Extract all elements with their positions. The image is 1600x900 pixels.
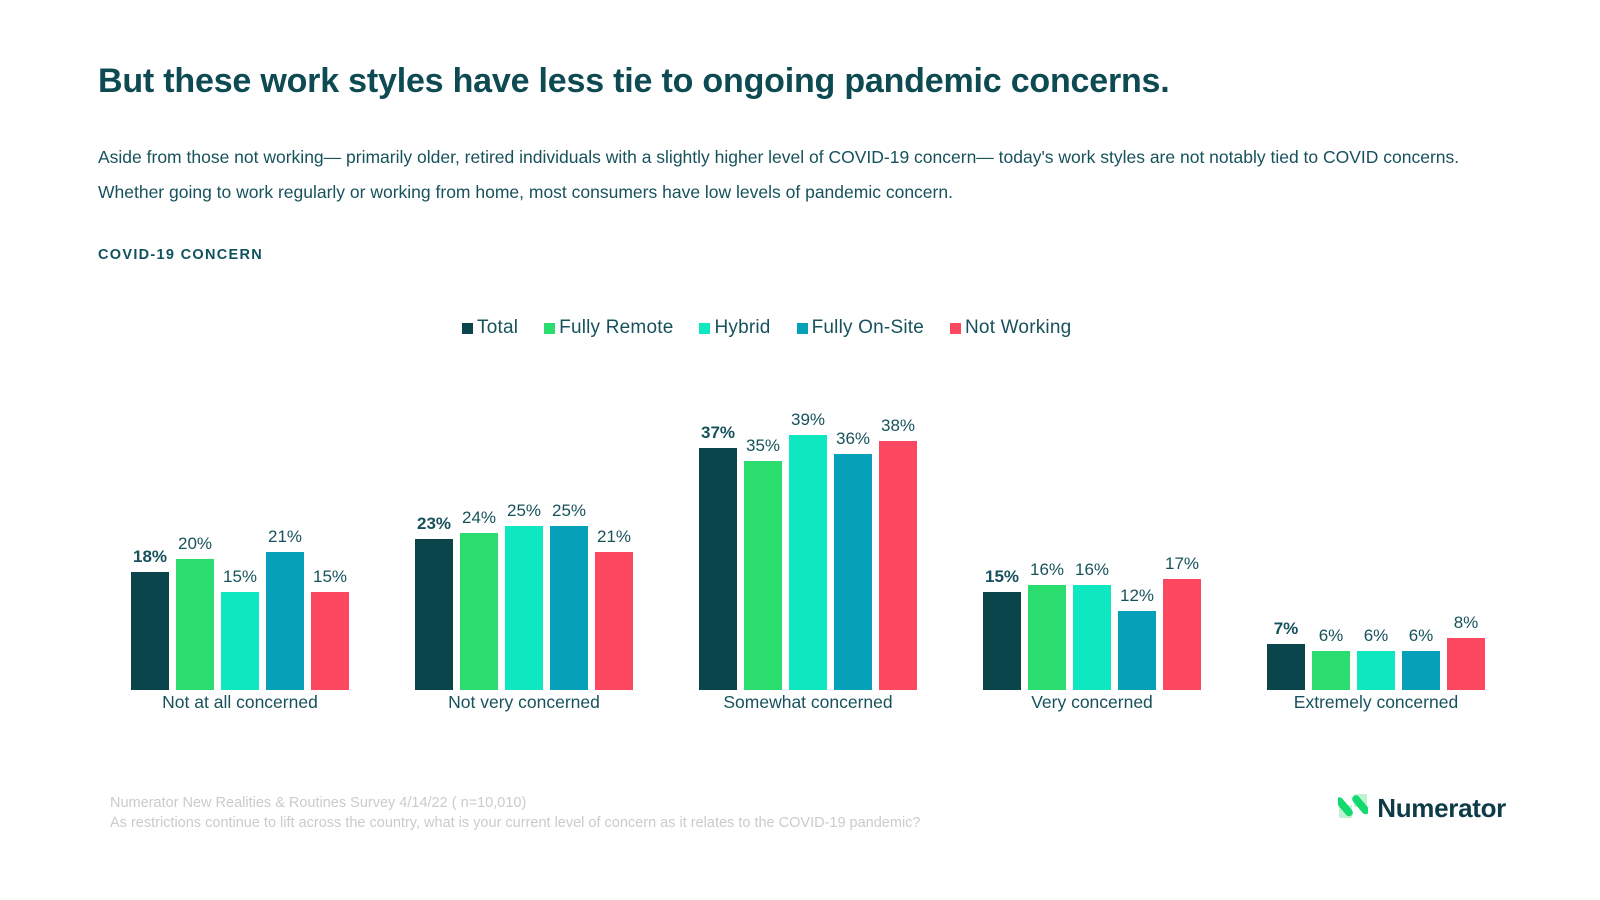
bar-rect[interactable]: [1073, 585, 1111, 690]
numerator-mark-icon: [1338, 791, 1368, 826]
page-title: But these work styles have less tie to o…: [98, 62, 1170, 101]
bar-value-label: 35%: [746, 437, 780, 454]
bar-item[interactable]: 21%: [266, 380, 304, 690]
bar-rect[interactable]: [311, 592, 349, 690]
bar-group: 7%6%6%6%8%: [1256, 380, 1496, 690]
bar-value-label: 6%: [1319, 627, 1344, 644]
x-axis-category-label: Not very concerned: [404, 692, 644, 722]
bar-rect[interactable]: [699, 448, 737, 690]
bar-value-label: 21%: [597, 528, 631, 545]
legend-label: Not Working: [965, 317, 1071, 339]
bar-item[interactable]: 15%: [983, 380, 1021, 690]
bar-item[interactable]: 39%: [789, 380, 827, 690]
footer-source-note: Numerator New Realities & Routines Surve…: [110, 793, 921, 833]
x-axis-category-label: Extremely concerned: [1256, 692, 1496, 722]
bar-rect[interactable]: [1118, 611, 1156, 690]
bar-rect[interactable]: [1312, 651, 1350, 690]
bar-rect[interactable]: [789, 435, 827, 690]
page-subtitle: Aside from those not working— primarily …: [98, 140, 1478, 210]
bar-item[interactable]: 25%: [505, 380, 543, 690]
bar-value-label: 16%: [1075, 561, 1109, 578]
bar-rect[interactable]: [1163, 579, 1201, 690]
legend-swatch-icon: [797, 323, 808, 334]
bar-rect[interactable]: [744, 461, 782, 690]
chart-legend: TotalFully RemoteHybridFully On-SiteNot …: [462, 317, 1071, 339]
legend-label: Hybrid: [714, 317, 770, 339]
bar-rect[interactable]: [1357, 651, 1395, 690]
bar-item[interactable]: 16%: [1073, 380, 1111, 690]
bar-rect[interactable]: [1028, 585, 1066, 690]
bar-item[interactable]: 7%: [1267, 380, 1305, 690]
bar-item[interactable]: 8%: [1447, 380, 1485, 690]
bar-group: 37%35%39%36%38%: [688, 380, 928, 690]
bar-rect[interactable]: [460, 533, 498, 690]
legend-label: Fully On-Site: [812, 317, 924, 339]
bar-rect[interactable]: [550, 526, 588, 690]
chart-kicker-label: COVID-19 CONCERN: [98, 247, 263, 263]
bar-value-label: 15%: [313, 568, 347, 585]
bar-rect[interactable]: [983, 592, 1021, 690]
numerator-logo: Numerator: [1338, 791, 1506, 826]
bar-item[interactable]: 35%: [744, 380, 782, 690]
bar-value-label: 25%: [552, 502, 586, 519]
bar-rect[interactable]: [1402, 651, 1440, 690]
bar-group: 18%20%15%21%15%: [120, 380, 360, 690]
bar-item[interactable]: 12%: [1118, 380, 1156, 690]
footer-line-1: Numerator New Realities & Routines Surve…: [110, 793, 921, 813]
legend-item-fully-remote[interactable]: Fully Remote: [544, 317, 673, 339]
bar-value-label: 36%: [836, 430, 870, 447]
bar-value-label: 6%: [1364, 627, 1389, 644]
slide-root: But these work styles have less tie to o…: [0, 0, 1600, 900]
bar-rect[interactable]: [131, 572, 169, 690]
x-axis-category-label: Somewhat concerned: [688, 692, 928, 722]
legend-item-hybrid[interactable]: Hybrid: [699, 317, 770, 339]
legend-swatch-icon: [462, 323, 473, 334]
bar-item[interactable]: 25%: [550, 380, 588, 690]
bar-item[interactable]: 6%: [1312, 380, 1350, 690]
bar-rect[interactable]: [595, 552, 633, 690]
bar-value-label: 12%: [1120, 587, 1154, 604]
bar-rect[interactable]: [176, 559, 214, 690]
bar-value-label: 25%: [507, 502, 541, 519]
bar-value-label: 15%: [985, 568, 1019, 585]
bar-rect[interactable]: [505, 526, 543, 690]
x-axis-category-label: Very concerned: [972, 692, 1212, 722]
bar-item[interactable]: 37%: [699, 380, 737, 690]
bar-rect[interactable]: [1447, 638, 1485, 690]
legend-item-not-working[interactable]: Not Working: [950, 317, 1071, 339]
bar-value-label: 38%: [881, 417, 915, 434]
bar-value-label: 21%: [268, 528, 302, 545]
chart-plot-area: 18%20%15%21%15%23%24%25%25%21%37%35%39%3…: [98, 380, 1518, 690]
bar-value-label: 16%: [1030, 561, 1064, 578]
bar-value-label: 15%: [223, 568, 257, 585]
bar-item[interactable]: 20%: [176, 380, 214, 690]
bar-rect[interactable]: [415, 539, 453, 690]
bar-item[interactable]: 21%: [595, 380, 633, 690]
legend-swatch-icon: [950, 323, 961, 334]
bar-value-label: 6%: [1409, 627, 1434, 644]
bar-groups: 18%20%15%21%15%23%24%25%25%21%37%35%39%3…: [98, 380, 1518, 690]
bar-value-label: 23%: [417, 515, 451, 532]
bar-item[interactable]: 15%: [221, 380, 259, 690]
bar-value-label: 20%: [178, 535, 212, 552]
bar-group: 15%16%16%12%17%: [972, 380, 1212, 690]
bar-value-label: 7%: [1274, 620, 1299, 637]
numerator-wordmark: Numerator: [1377, 793, 1506, 824]
legend-swatch-icon: [544, 323, 555, 334]
bar-item[interactable]: 16%: [1028, 380, 1066, 690]
bar-value-label: 17%: [1165, 555, 1199, 572]
footer-line-2: As restrictions continue to lift across …: [110, 813, 921, 833]
legend-item-total[interactable]: Total: [462, 317, 518, 339]
bar-item[interactable]: 17%: [1163, 380, 1201, 690]
x-axis-category-label: Not at all concerned: [120, 692, 360, 722]
bar-item[interactable]: 6%: [1357, 380, 1395, 690]
bar-value-label: 37%: [701, 424, 735, 441]
bar-item[interactable]: 6%: [1402, 380, 1440, 690]
x-axis-labels: Not at all concernedNot very concernedSo…: [98, 692, 1518, 722]
bar-item[interactable]: 38%: [879, 380, 917, 690]
bar-value-label: 24%: [462, 509, 496, 526]
legend-label: Total: [477, 317, 518, 339]
bar-value-label: 18%: [133, 548, 167, 565]
bar-rect[interactable]: [834, 454, 872, 690]
bar-group: 23%24%25%25%21%: [404, 380, 644, 690]
bar-value-label: 39%: [791, 411, 825, 428]
bar-rect[interactable]: [221, 592, 259, 690]
bar-value-label: 8%: [1454, 614, 1479, 631]
bar-item[interactable]: 36%: [834, 380, 872, 690]
bar-rect[interactable]: [266, 552, 304, 690]
bar-rect[interactable]: [879, 441, 917, 690]
legend-label: Fully Remote: [559, 317, 673, 339]
bar-item[interactable]: 24%: [460, 380, 498, 690]
bar-item[interactable]: 18%: [131, 380, 169, 690]
legend-item-fully-on-site[interactable]: Fully On-Site: [797, 317, 924, 339]
bar-item[interactable]: 23%: [415, 380, 453, 690]
bar-rect[interactable]: [1267, 644, 1305, 690]
bar-item[interactable]: 15%: [311, 380, 349, 690]
legend-swatch-icon: [699, 323, 710, 334]
